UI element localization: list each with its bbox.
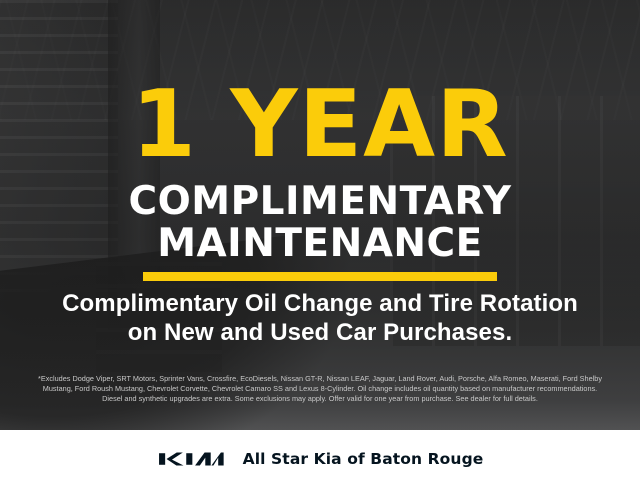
headline-complimentary: COMPLIMENTARY — [0, 180, 640, 224]
footer-bar: All Star Kia of Baton Rouge — [0, 430, 640, 488]
hero-panel: 1 YEAR COMPLIMENTARY MAINTENANCE Complim… — [0, 0, 640, 430]
headline-maintenance: MAINTENANCE — [0, 222, 640, 266]
offer-description: Complimentary Oil Change and Tire Rotati… — [0, 289, 640, 347]
dealer-name: All Star Kia of Baton Rouge — [243, 450, 484, 468]
hero-content: 1 YEAR COMPLIMENTARY MAINTENANCE Complim… — [0, 0, 640, 430]
offer-line-1: Complimentary Oil Change and Tire Rotati… — [0, 289, 640, 318]
advertisement-banner: 1 YEAR COMPLIMENTARY MAINTENANCE Complim… — [0, 0, 640, 488]
disclaimer-line-1: *Excludes Dodge Viper, SRT Motors, Sprin… — [16, 374, 624, 384]
kia-logo — [157, 448, 225, 470]
offer-line-2: on New and Used Car Purchases. — [0, 318, 640, 347]
yellow-divider-bar — [143, 272, 497, 281]
disclaimer-line-2: Mustang, Ford Roush Mustang, Chevrolet C… — [16, 384, 624, 394]
headline-year: 1 YEAR — [0, 78, 640, 171]
disclaimer-text: *Excludes Dodge Viper, SRT Motors, Sprin… — [16, 374, 624, 405]
disclaimer-line-3: Diesel and synthetic upgrades are extra.… — [16, 394, 624, 404]
